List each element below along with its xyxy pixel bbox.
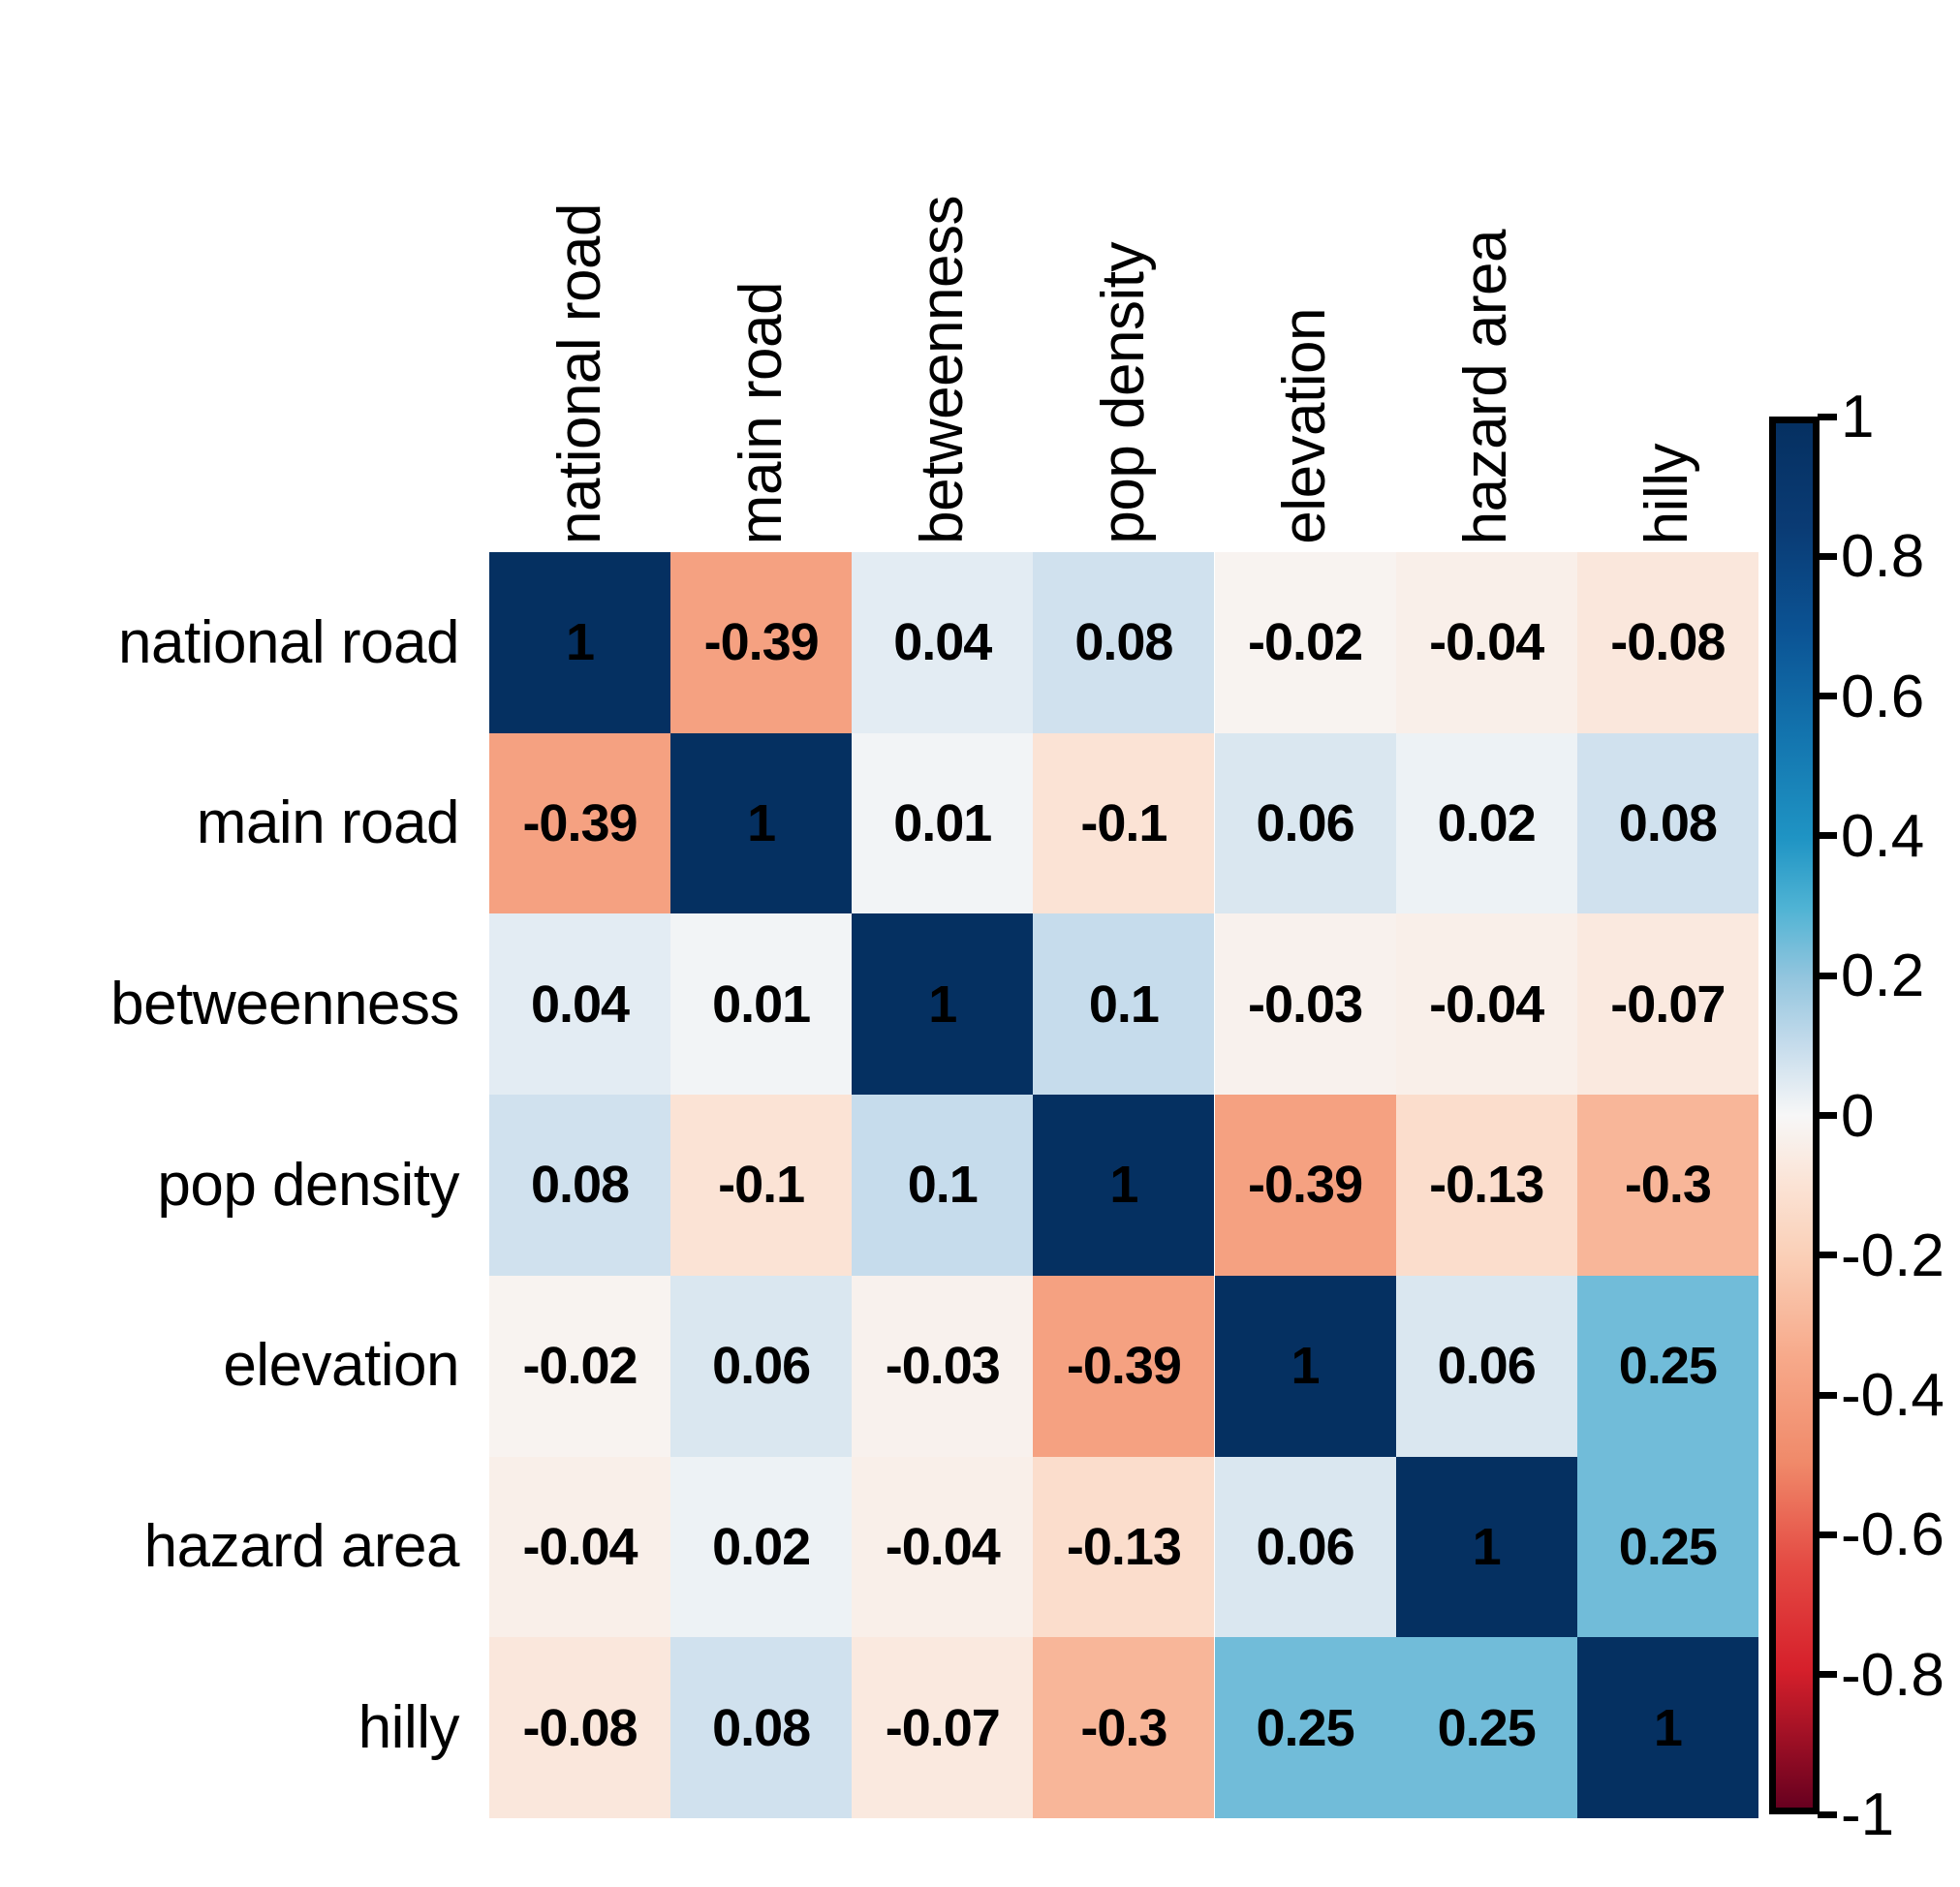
- column-header: pop density: [1033, 41, 1214, 544]
- heatmap-cell: -0.1: [670, 1095, 852, 1276]
- heatmap-cell-value: 0.1: [908, 1159, 978, 1211]
- heatmap-cell: -0.02: [1215, 552, 1396, 733]
- heatmap-cell-value: 1: [566, 616, 594, 668]
- heatmap-cell-value: 1: [928, 978, 956, 1031]
- heatmap-cell-value: -0.04: [522, 1521, 637, 1573]
- heatmap-cell-value: -0.04: [886, 1521, 1000, 1573]
- row-header-label: hilly: [4, 1637, 459, 1818]
- heatmap-cell-value: -0.02: [1248, 616, 1362, 668]
- heatmap-cell: 1: [1215, 1276, 1396, 1457]
- row-header-label: pop density: [4, 1095, 459, 1276]
- colorbar-tick-label: -0.2: [1841, 1226, 1944, 1286]
- heatmap-cell-value: 0.06: [1438, 1340, 1536, 1392]
- colorbar-tick-mark: [1818, 1112, 1837, 1119]
- heatmap-cell-value: 0.06: [712, 1340, 810, 1392]
- heatmap-cell-value: 0.02: [712, 1521, 810, 1573]
- colorbar-tick-label: 0: [1841, 1087, 1874, 1147]
- heatmap-cell-value: 1: [1109, 1159, 1137, 1211]
- colorbar-tick-label: 0.4: [1841, 807, 1924, 867]
- heatmap-cell: 0.25: [1215, 1637, 1396, 1818]
- colorbar-tick-mark: [1818, 1252, 1837, 1258]
- heatmap-cell: -0.07: [852, 1637, 1033, 1818]
- column-header-label: hilly: [1637, 444, 1697, 544]
- column-header: betweenness: [852, 41, 1033, 544]
- heatmap-cell-value: -0.07: [886, 1702, 1000, 1754]
- heatmap-cell: 1: [489, 552, 670, 733]
- heatmap-cell-value: 0.25: [1619, 1340, 1717, 1392]
- heatmap-cell-value: -0.39: [522, 797, 637, 850]
- heatmap-cell-value: -0.08: [522, 1702, 637, 1754]
- heatmap-cell-value: -0.03: [886, 1340, 1000, 1392]
- heatmap-cell: 0.06: [1215, 733, 1396, 914]
- heatmap-cell: 1: [1033, 1095, 1214, 1276]
- heatmap-cell-value: 0.04: [531, 978, 629, 1031]
- heatmap-cell-value: -0.3: [1080, 1702, 1167, 1754]
- heatmap-cell-value: 0.25: [1619, 1521, 1717, 1573]
- column-header-label: hazard area: [1456, 230, 1516, 544]
- heatmap-cell: -0.39: [1215, 1095, 1396, 1276]
- heatmap-cell: 0.08: [489, 1095, 670, 1276]
- heatmap-cell-value: 0.08: [1074, 616, 1172, 668]
- heatmap-cell-value: 1: [747, 797, 775, 850]
- row-label-group: national roadmain roadbetweennesspop den…: [0, 552, 475, 1818]
- heatmap-cell: -0.13: [1033, 1457, 1214, 1638]
- row-header-label: betweenness: [4, 913, 459, 1095]
- heatmap-cell: -0.1: [1033, 733, 1214, 914]
- heatmap-cell-value: -0.1: [718, 1159, 804, 1211]
- heatmap-cell: 0.02: [1396, 733, 1577, 914]
- heatmap-cell: -0.39: [670, 552, 852, 733]
- heatmap-cell: -0.04: [1396, 913, 1577, 1095]
- colorbar-tick-label: -0.8: [1841, 1646, 1944, 1706]
- heatmap-cell: 0.1: [852, 1095, 1033, 1276]
- heatmap-cell: -0.03: [1215, 913, 1396, 1095]
- heatmap-cell: 0.01: [670, 913, 852, 1095]
- heatmap-cell: 0.02: [670, 1457, 852, 1638]
- row-header-label: elevation: [4, 1276, 459, 1457]
- colorbar-tick-group: 10.80.60.40.20-0.2-0.4-0.6-0.8-1: [1820, 417, 1955, 1814]
- heatmap-cell-value: 0.08: [1619, 797, 1717, 850]
- heatmap-cell: 0.25: [1396, 1637, 1577, 1818]
- colorbar-group: 10.80.60.40.20-0.2-0.4-0.6-0.8-1: [1769, 417, 1953, 1821]
- heatmap-cell-value: -0.3: [1625, 1159, 1711, 1211]
- heatmap-cell: 1: [1577, 1637, 1758, 1818]
- colorbar-tick-label: 1: [1841, 387, 1874, 448]
- heatmap-cell: -0.3: [1033, 1637, 1214, 1818]
- colorbar-tick-mark: [1818, 832, 1837, 839]
- column-header: hilly: [1577, 41, 1758, 544]
- heatmap-cell-value: -0.39: [1067, 1340, 1181, 1392]
- column-header-label: main road: [731, 282, 792, 544]
- heatmap-cell-value: 0.06: [1257, 1521, 1354, 1573]
- column-header: national road: [489, 41, 670, 544]
- heatmap-cell: 1: [1396, 1457, 1577, 1638]
- heatmap-cell-value: -0.13: [1067, 1521, 1181, 1573]
- heatmap-cell-value: 1: [1291, 1340, 1320, 1392]
- colorbar-tick-label: 0.2: [1841, 946, 1924, 1006]
- heatmap-cell: -0.13: [1396, 1095, 1577, 1276]
- heatmap-cell: -0.04: [489, 1457, 670, 1638]
- colorbar-gradient: [1776, 423, 1813, 1808]
- colorbar-tick-mark: [1818, 1392, 1837, 1399]
- heatmap-cell: -0.39: [489, 733, 670, 914]
- heatmap-cell: 1: [670, 733, 852, 914]
- row-header-label: national road: [4, 552, 459, 733]
- heatmap-cell-value: 0.25: [1438, 1702, 1536, 1754]
- heatmap-cell-value: 1: [1654, 1702, 1682, 1754]
- column-header-label: elevation: [1275, 308, 1335, 544]
- heatmap-cell: -0.08: [489, 1637, 670, 1818]
- heatmap-cell: 1: [852, 913, 1033, 1095]
- heatmap-cell: -0.03: [852, 1276, 1033, 1457]
- colorbar-tick-mark: [1818, 414, 1837, 420]
- row-header-label: main road: [4, 733, 459, 914]
- heatmap-cell: 0.06: [670, 1276, 852, 1457]
- heatmap-cell: 0.04: [852, 552, 1033, 733]
- heatmap-cell-value: 0.04: [893, 616, 991, 668]
- heatmap-cell-value: -0.04: [1429, 616, 1543, 668]
- column-header-label: betweenness: [913, 196, 973, 544]
- heatmap-cell-value: 0.08: [531, 1159, 629, 1211]
- heatmap-cell: -0.3: [1577, 1095, 1758, 1276]
- heatmap-cell: -0.04: [1396, 552, 1577, 733]
- heatmap-cell-value: 0.02: [1438, 797, 1536, 850]
- correlation-matrix: 1-0.390.040.08-0.02-0.04-0.08-0.3910.01-…: [489, 552, 1758, 1818]
- heatmap-cell: 0.1: [1033, 913, 1214, 1095]
- heatmap-cell: 0.08: [1577, 733, 1758, 914]
- row-header-label: hazard area: [4, 1457, 459, 1638]
- column-header: elevation: [1215, 41, 1396, 544]
- colorbar-tick-mark: [1818, 1811, 1837, 1818]
- heatmap-cell: 0.08: [1033, 552, 1214, 733]
- heatmap-cell-value: 0.08: [712, 1702, 810, 1754]
- column-header-group: national roadmain roadbetweennesspop den…: [489, 0, 1758, 552]
- colorbar-tick-mark: [1818, 1531, 1837, 1538]
- colorbar-tick-label: 0.8: [1841, 527, 1924, 587]
- colorbar-tick-label: -0.6: [1841, 1505, 1944, 1565]
- heatmap-cell-value: -0.1: [1080, 797, 1167, 850]
- column-header-label: national road: [550, 203, 610, 544]
- heatmap-cell-value: -0.03: [1248, 978, 1362, 1031]
- heatmap-cell: -0.08: [1577, 552, 1758, 733]
- heatmap-cell-value: 0.1: [1089, 978, 1159, 1031]
- heatmap-cell: 0.04: [489, 913, 670, 1095]
- heatmap-cell: 0.25: [1577, 1276, 1758, 1457]
- heatmap-cell: -0.39: [1033, 1276, 1214, 1457]
- heatmap-cell-value: 0.06: [1257, 797, 1354, 850]
- heatmap-cell-value: 1: [1473, 1521, 1501, 1573]
- heatmap-cell-value: -0.08: [1610, 616, 1725, 668]
- heatmap-cell: 0.01: [852, 733, 1033, 914]
- heatmap-cell-value: 0.25: [1257, 1702, 1354, 1754]
- colorbar-tick-mark: [1818, 1671, 1837, 1678]
- heatmap-cell-value: 0.01: [893, 797, 991, 850]
- heatmap-cell: 0.06: [1396, 1276, 1577, 1457]
- heatmap-cell-value: -0.13: [1429, 1159, 1543, 1211]
- colorbar-tick-label: 0.6: [1841, 667, 1924, 727]
- column-header: main road: [670, 41, 852, 544]
- colorbar-tick-mark: [1818, 693, 1837, 699]
- heatmap-cell: -0.07: [1577, 913, 1758, 1095]
- column-header-label: pop density: [1094, 242, 1154, 544]
- heatmap-cell-value: -0.04: [1429, 978, 1543, 1031]
- heatmap-cell-value: -0.39: [1248, 1159, 1362, 1211]
- heatmap-cell-value: 0.01: [712, 978, 810, 1031]
- column-header: hazard area: [1396, 41, 1577, 544]
- heatmap-cell: 0.08: [670, 1637, 852, 1818]
- heatmap-cell: -0.04: [852, 1457, 1033, 1638]
- colorbar: [1769, 417, 1820, 1814]
- heatmap-cell-value: -0.02: [522, 1340, 637, 1392]
- heatmap-cell: 0.25: [1577, 1457, 1758, 1638]
- heatmap-cell: 0.06: [1215, 1457, 1396, 1638]
- colorbar-tick-mark: [1818, 973, 1837, 979]
- colorbar-tick-label: -0.4: [1841, 1366, 1944, 1426]
- heatmap-cell-value: -0.07: [1610, 978, 1725, 1031]
- heatmap-figure: national roadmain roadbetweennesspop den…: [0, 0, 1960, 1887]
- heatmap-cell-value: -0.39: [704, 616, 819, 668]
- heatmap-cell: -0.02: [489, 1276, 670, 1457]
- colorbar-tick-mark: [1818, 553, 1837, 560]
- colorbar-tick-label: -1: [1841, 1785, 1894, 1845]
